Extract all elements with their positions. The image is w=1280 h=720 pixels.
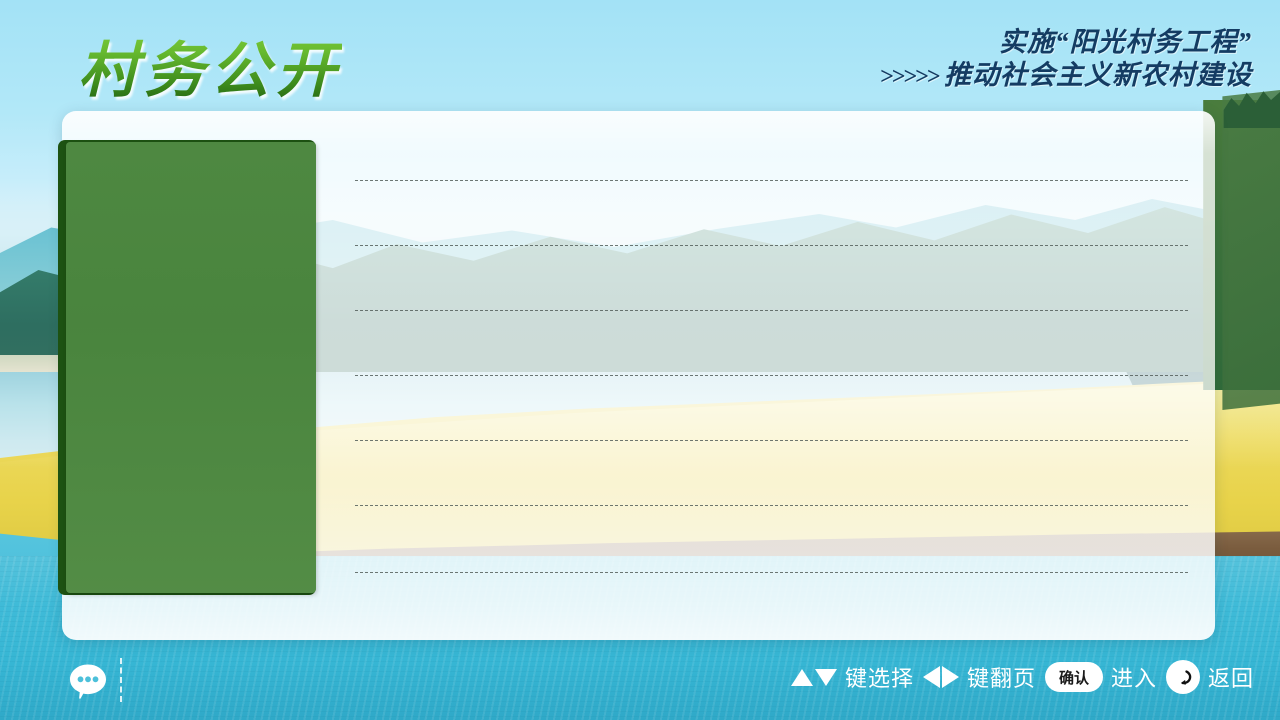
footer-hint-bar: 键选择 键翻页 确认 进入 返回 <box>791 660 1254 694</box>
arrow-right-icon <box>942 666 959 688</box>
speech-bubble-dots-icon[interactable] <box>68 663 108 699</box>
menu-panel[interactable] <box>66 142 316 593</box>
confirm-key-icon[interactable]: 确认 <box>1045 662 1103 692</box>
content-row-2[interactable] <box>355 245 1188 246</box>
hint-select-label: 键选择 <box>845 661 914 693</box>
slogan-arrows-icon: >>>>> <box>880 64 938 90</box>
hint-page[interactable]: 键翻页 <box>923 661 1036 693</box>
slogan-line-2: 推动社会主义新农村建设 <box>944 60 1252 90</box>
content-dashed-rows <box>355 111 1188 640</box>
content-row-7[interactable] <box>355 572 1188 573</box>
hint-enter[interactable]: 确认 进入 <box>1045 661 1157 693</box>
content-row-6[interactable] <box>355 505 1188 506</box>
slide-root: 村务公开 实施“阳光村务工程” >>>>>推动社会主义新农村建设 键选择 <box>0 0 1280 720</box>
content-row-1[interactable] <box>355 180 1188 181</box>
content-row-5[interactable] <box>355 440 1188 441</box>
up-down-arrow-keys-icon <box>791 669 837 686</box>
hint-back-label: 返回 <box>1208 661 1254 693</box>
slogan-line-2-wrapper: >>>>>推动社会主义新农村建设 <box>880 59 1252 92</box>
content-row-3[interactable] <box>355 310 1188 311</box>
hint-page-label: 键翻页 <box>967 661 1036 693</box>
hint-enter-label: 进入 <box>1111 661 1157 693</box>
arrow-left-icon <box>923 666 940 688</box>
slogan-block: 实施“阳光村务工程” >>>>>推动社会主义新农村建设 <box>880 26 1252 92</box>
return-arrow-icon <box>1172 667 1193 688</box>
return-key-icon[interactable] <box>1166 660 1200 694</box>
page-title: 村务公开 <box>78 22 342 109</box>
content-row-4[interactable] <box>355 375 1188 376</box>
slogan-line-1: 实施“阳光村务工程” <box>880 26 1252 59</box>
arrow-up-icon <box>791 669 813 686</box>
arrow-down-icon <box>815 669 837 686</box>
hint-select[interactable]: 键选择 <box>791 661 914 693</box>
footer-divider <box>120 658 122 702</box>
hint-back[interactable]: 返回 <box>1166 660 1254 694</box>
left-right-arrow-keys-icon <box>923 666 959 688</box>
